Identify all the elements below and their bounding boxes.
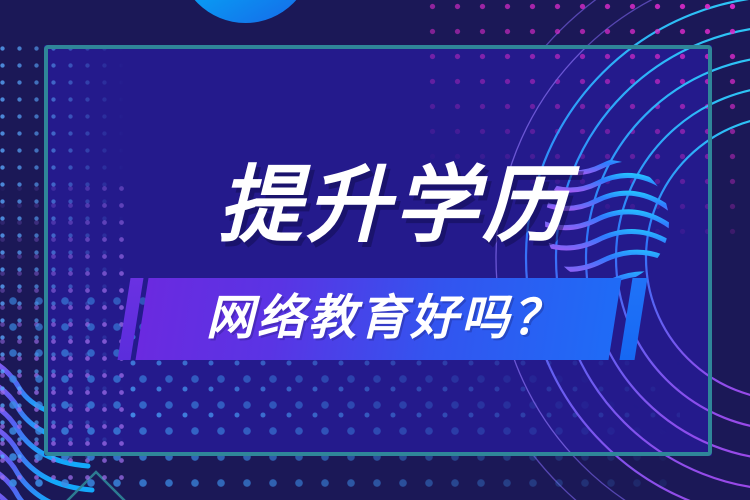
subtitle-banner: 网络教育好吗？ (0, 278, 750, 370)
banner-trail-slash-icon (620, 278, 648, 360)
cyan-circle-icon (178, 0, 313, 23)
page-title: 提升学历 (218, 155, 570, 255)
poster-canvas: 提升学历 网络教育好吗？ (0, 0, 750, 500)
subtitle-text: 网络教育好吗？ (206, 278, 563, 360)
